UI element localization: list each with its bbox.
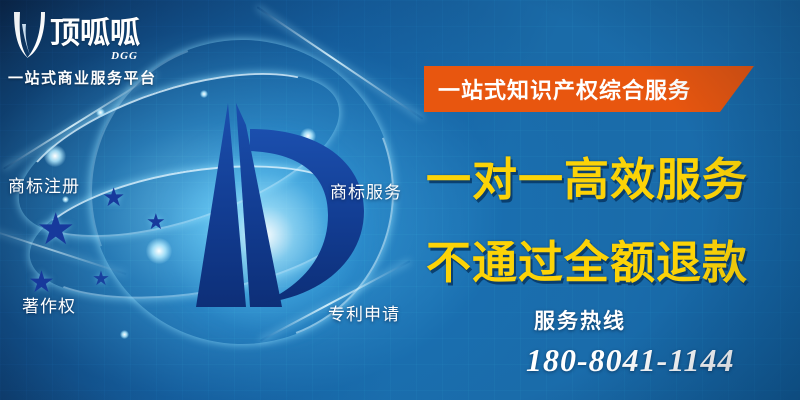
sparkle-icon <box>120 330 129 339</box>
ribbon-text: 一站式知识产权综合服务 <box>424 73 691 105</box>
brand-tagline: 一站式商业服务平台 <box>8 67 188 88</box>
star-icon: ★ <box>92 268 110 288</box>
brand-logo[interactable]: 顶呱呱 DGG 一站式商业服务平台 <box>8 8 188 88</box>
hotline-label: 服务热线 <box>534 305 626 335</box>
keyword-label-trademark-registration: 商标注册 <box>8 172 80 197</box>
keyword-label-patent-application: 专利申请 <box>328 300 400 325</box>
hotline-number[interactable]: 180-8041-1144 <box>526 342 735 379</box>
promo-copy-panel: 一站式知识产权综合服务 一对一高效服务 不通过全额退款 服务热线 180-804… <box>420 0 800 400</box>
dgg-leaf-mark-icon <box>8 8 48 62</box>
keyword-label-copyright: 著作权 <box>22 292 76 317</box>
star-icon: ★ <box>36 208 75 252</box>
sparkle-icon <box>62 196 69 203</box>
headline-secondary: 不通过全额退款 <box>426 226 748 291</box>
brand-name-cn: 顶呱呱 <box>50 19 140 49</box>
keyword-label-trademark-service: 商标服务 <box>330 178 402 203</box>
sparkle-icon <box>96 108 105 117</box>
ribbon-banner: 一站式知识产权综合服务 <box>424 66 754 112</box>
headline-primary: 一对一高效服务 <box>426 143 748 208</box>
sparkle-icon <box>44 145 66 167</box>
brand-name-en: DGG <box>50 50 138 62</box>
promo-banner: ★ ★ ★ ★ ★ <box>0 0 800 400</box>
star-icon: ★ <box>102 185 125 211</box>
